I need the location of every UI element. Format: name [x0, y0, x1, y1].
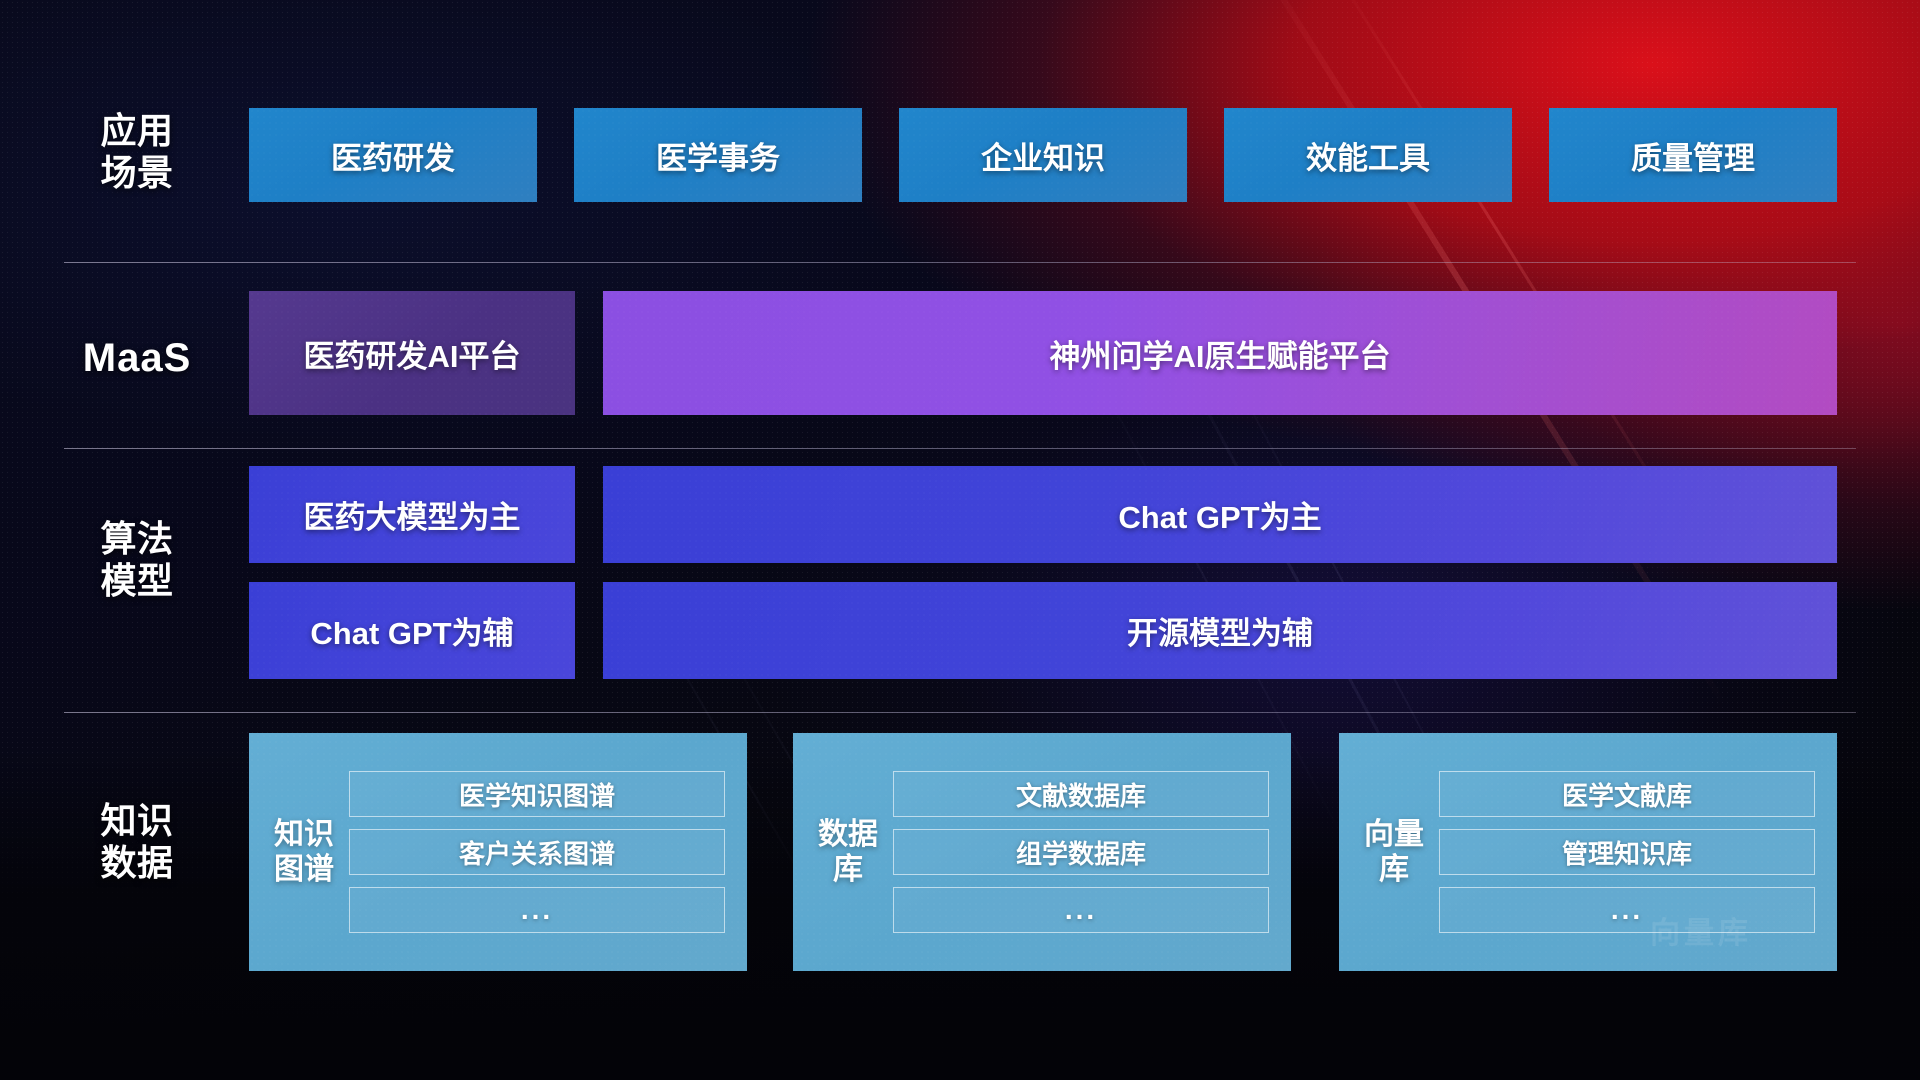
knowledge-item-vector-3[interactable]: ... — [1439, 887, 1815, 933]
row-label-application: 应用 场景 — [64, 110, 210, 195]
maas-box-enablement-label: 神州问学AI原生赋能平台 — [1050, 331, 1391, 376]
knowledge-item-graph-1-label: 医学知识图谱 — [459, 776, 615, 813]
knowledge-item-database-2[interactable]: 组学数据库 — [893, 829, 1269, 875]
application-box-5[interactable]: 质量管理 — [1549, 108, 1837, 202]
knowledge-item-database-1[interactable]: 文献数据库 — [893, 771, 1269, 817]
row-label-algorithm: 算法 模型 — [64, 518, 210, 603]
knowledge-item-graph-3-label: ... — [521, 894, 553, 926]
application-box-4[interactable]: 效能工具 — [1224, 108, 1512, 202]
knowledge-panel-graph-label: 知识 图谱 — [273, 817, 335, 888]
knowledge-item-vector-1-label: 医学文献库 — [1562, 776, 1692, 813]
divider-maas-algorithm — [64, 448, 1856, 449]
knowledge-item-database-3[interactable]: ... — [893, 887, 1269, 933]
knowledge-item-graph-2-label: 客户关系图谱 — [459, 834, 615, 871]
application-box-3[interactable]: 企业知识 — [899, 108, 1187, 202]
application-box-2-label: 医学事务 — [656, 133, 780, 178]
algorithm-box-opensource-aux-label: 开源模型为辅 — [1127, 608, 1313, 653]
maas-box-platform[interactable]: 医药研发AI平台 — [249, 291, 575, 415]
knowledge-panel-database[interactable]: 数据 库 文献数据库 组学数据库 ... — [793, 733, 1291, 971]
knowledge-panel-vector-items: 医学文献库 管理知识库 ... — [1425, 753, 1837, 951]
knowledge-item-vector-3-label: ... — [1611, 894, 1643, 926]
knowledge-item-database-2-label: 组学数据库 — [1016, 834, 1146, 871]
maas-box-enablement[interactable]: 神州问学AI原生赋能平台 — [603, 291, 1837, 415]
architecture-diagram: 应用 场景 医药研发 医学事务 企业知识 效能工具 质量管理 MaaS 医药研发… — [0, 0, 1920, 1080]
knowledge-item-database-3-label: ... — [1065, 894, 1097, 926]
application-box-1[interactable]: 医药研发 — [249, 108, 537, 202]
knowledge-panel-graph-items: 医学知识图谱 客户关系图谱 ... — [335, 753, 747, 951]
knowledge-item-vector-2-label: 管理知识库 — [1562, 834, 1692, 871]
algorithm-box-chatgpt-main[interactable]: Chat GPT为主 — [603, 466, 1837, 563]
knowledge-panel-graph[interactable]: 知识 图谱 医学知识图谱 客户关系图谱 ... — [249, 733, 747, 971]
algorithm-box-chatgpt-aux-label: Chat GPT为辅 — [310, 608, 513, 653]
knowledge-item-graph-1[interactable]: 医学知识图谱 — [349, 771, 725, 817]
knowledge-panel-database-items: 文献数据库 组学数据库 ... — [879, 753, 1291, 951]
knowledge-item-vector-2[interactable]: 管理知识库 — [1439, 829, 1815, 875]
row-label-knowledge: 知识 数据 — [64, 800, 210, 885]
algorithm-box-medical-main-label: 医药大模型为主 — [304, 492, 521, 537]
application-box-5-label: 质量管理 — [1631, 133, 1755, 178]
knowledge-panel-vector-label: 向量 库 — [1363, 817, 1425, 888]
knowledge-panel-database-label: 数据 库 — [817, 817, 879, 888]
application-box-1-label: 医药研发 — [331, 133, 455, 178]
knowledge-panel-vector[interactable]: 向量 库 医学文献库 管理知识库 ... — [1339, 733, 1837, 971]
application-box-4-label: 效能工具 — [1306, 133, 1430, 178]
maas-box-platform-label: 医药研发AI平台 — [304, 331, 521, 376]
knowledge-item-graph-2[interactable]: 客户关系图谱 — [349, 829, 725, 875]
divider-application-maas — [64, 262, 1856, 263]
application-box-3-label: 企业知识 — [981, 133, 1105, 178]
algorithm-box-medical-main[interactable]: 医药大模型为主 — [249, 466, 575, 563]
knowledge-item-database-1-label: 文献数据库 — [1016, 776, 1146, 813]
algorithm-box-chatgpt-aux[interactable]: Chat GPT为辅 — [249, 582, 575, 679]
divider-algorithm-knowledge — [64, 712, 1856, 713]
algorithm-box-opensource-aux[interactable]: 开源模型为辅 — [603, 582, 1837, 679]
application-box-2[interactable]: 医学事务 — [574, 108, 862, 202]
row-label-maas: MaaS — [64, 335, 210, 382]
knowledge-item-vector-1[interactable]: 医学文献库 — [1439, 771, 1815, 817]
knowledge-item-graph-3[interactable]: ... — [349, 887, 725, 933]
algorithm-box-chatgpt-main-label: Chat GPT为主 — [1118, 492, 1321, 537]
